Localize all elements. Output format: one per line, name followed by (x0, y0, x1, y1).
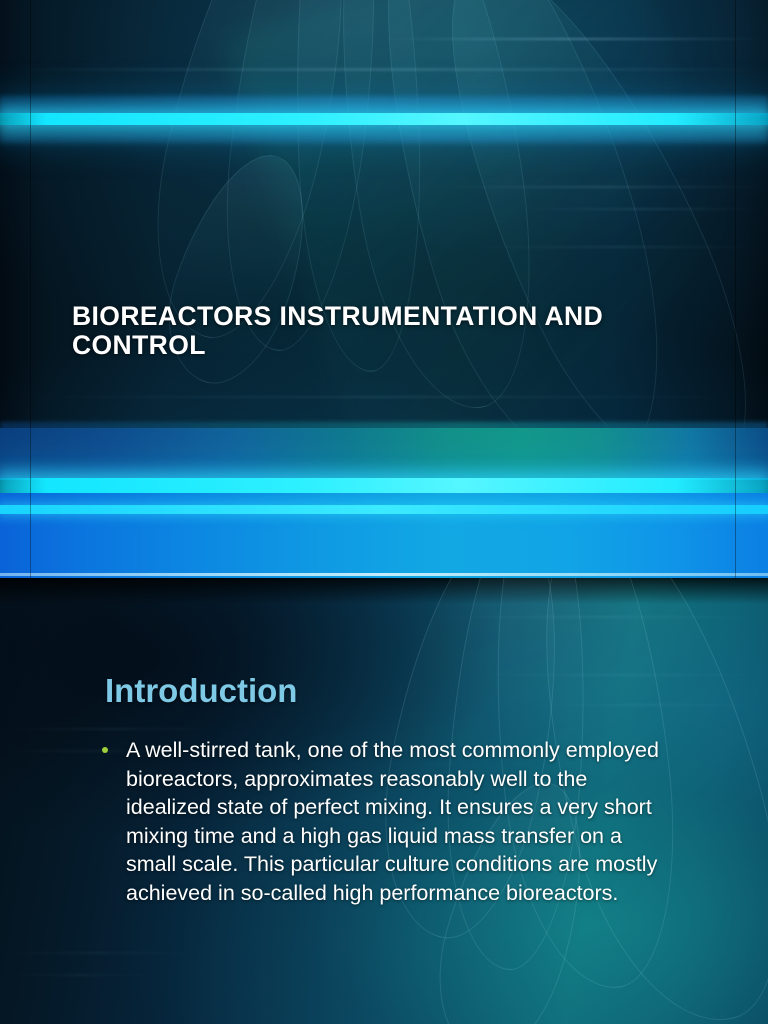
panel-edge (0, 573, 768, 576)
list-item: A well-stirred tank, one of the most com… (98, 736, 664, 908)
slide-deck: BIOREACTORS INSTRUMENTATION AND CONTROL … (0, 0, 768, 1024)
glow-band-upper (0, 96, 768, 116)
glow-band-lower (0, 133, 768, 143)
section-heading: Introduction (105, 672, 297, 710)
background-wash (0, 0, 768, 578)
slide-title: BIOREACTORS INSTRUMENTATION AND CONTROL (72, 302, 632, 360)
list-item-text: A well-stirred tank, one of the most com… (126, 738, 659, 905)
bullet-dot-icon (102, 747, 108, 753)
bullet-list: A well-stirred tank, one of the most com… (98, 736, 664, 908)
title-block: BIOREACTORS INSTRUMENTATION AND CONTROL (72, 302, 632, 360)
panel-stripe (0, 505, 768, 514)
top-shadow (0, 578, 768, 604)
title-slide: BIOREACTORS INSTRUMENTATION AND CONTROL (0, 0, 768, 578)
mid-band (0, 428, 768, 480)
